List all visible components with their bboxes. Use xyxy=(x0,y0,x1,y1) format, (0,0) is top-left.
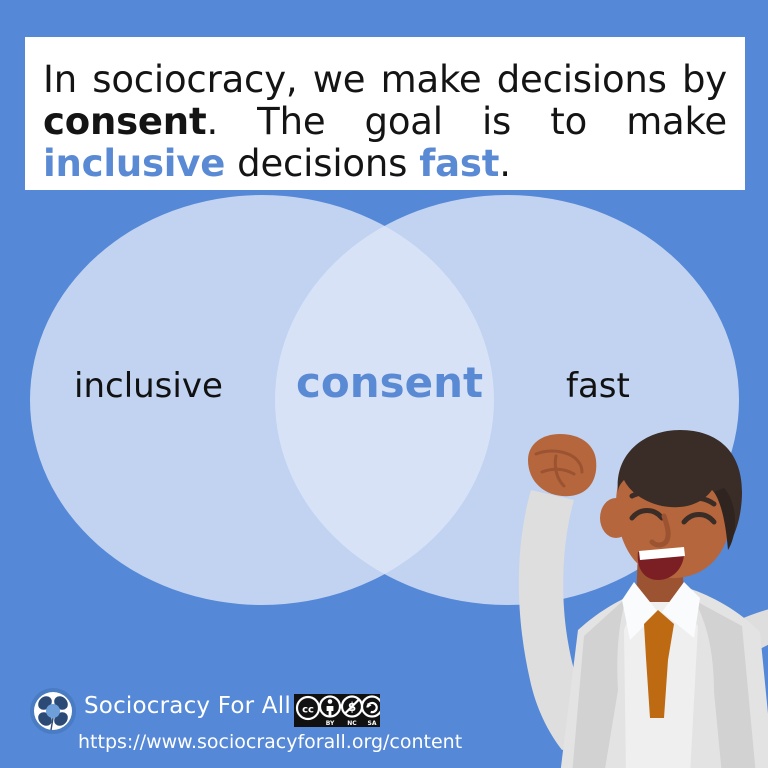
headline-fast-word: fast xyxy=(419,142,499,185)
headline-card: In sociocracy, we make decisions by cons… xyxy=(25,37,745,190)
headline-part4: . xyxy=(499,142,511,185)
cc-by-nc-sa-license-badge[interactable]: cc BY $ NC SA xyxy=(294,694,380,727)
footer-bar: Sociocracy For All cc BY $ NC SA https:/… xyxy=(30,688,450,760)
poster-canvas: inclusive consent fast xyxy=(0,0,768,768)
headline-part3: decisions xyxy=(225,142,419,185)
brand-name: Sociocracy For All xyxy=(84,693,291,719)
venn-label-consent: consent xyxy=(296,358,483,407)
svg-text:BY: BY xyxy=(326,720,335,727)
headline-text: In sociocracy, we make decisions by cons… xyxy=(43,59,727,184)
svg-text:SA: SA xyxy=(368,720,377,727)
svg-text:NC: NC xyxy=(347,720,357,727)
venn-label-fast: fast xyxy=(566,366,630,406)
celebrating-man-illustration xyxy=(498,430,768,768)
person-raised-fist xyxy=(528,434,596,496)
footer-url[interactable]: https://www.sociocracyforall.org/content xyxy=(78,731,462,753)
svg-text:cc: cc xyxy=(302,705,314,716)
headline-part2: . The goal is to make xyxy=(206,100,727,143)
headline-inclusive-word: inclusive xyxy=(43,142,225,185)
headline-part1: In sociocracy, we make decisions by xyxy=(43,58,727,101)
venn-label-inclusive: inclusive xyxy=(74,366,223,406)
headline-consent-word: consent xyxy=(43,100,206,143)
venn-label-group: inclusive consent fast xyxy=(0,360,768,420)
sociocracy-flower-logo-icon xyxy=(30,688,76,734)
